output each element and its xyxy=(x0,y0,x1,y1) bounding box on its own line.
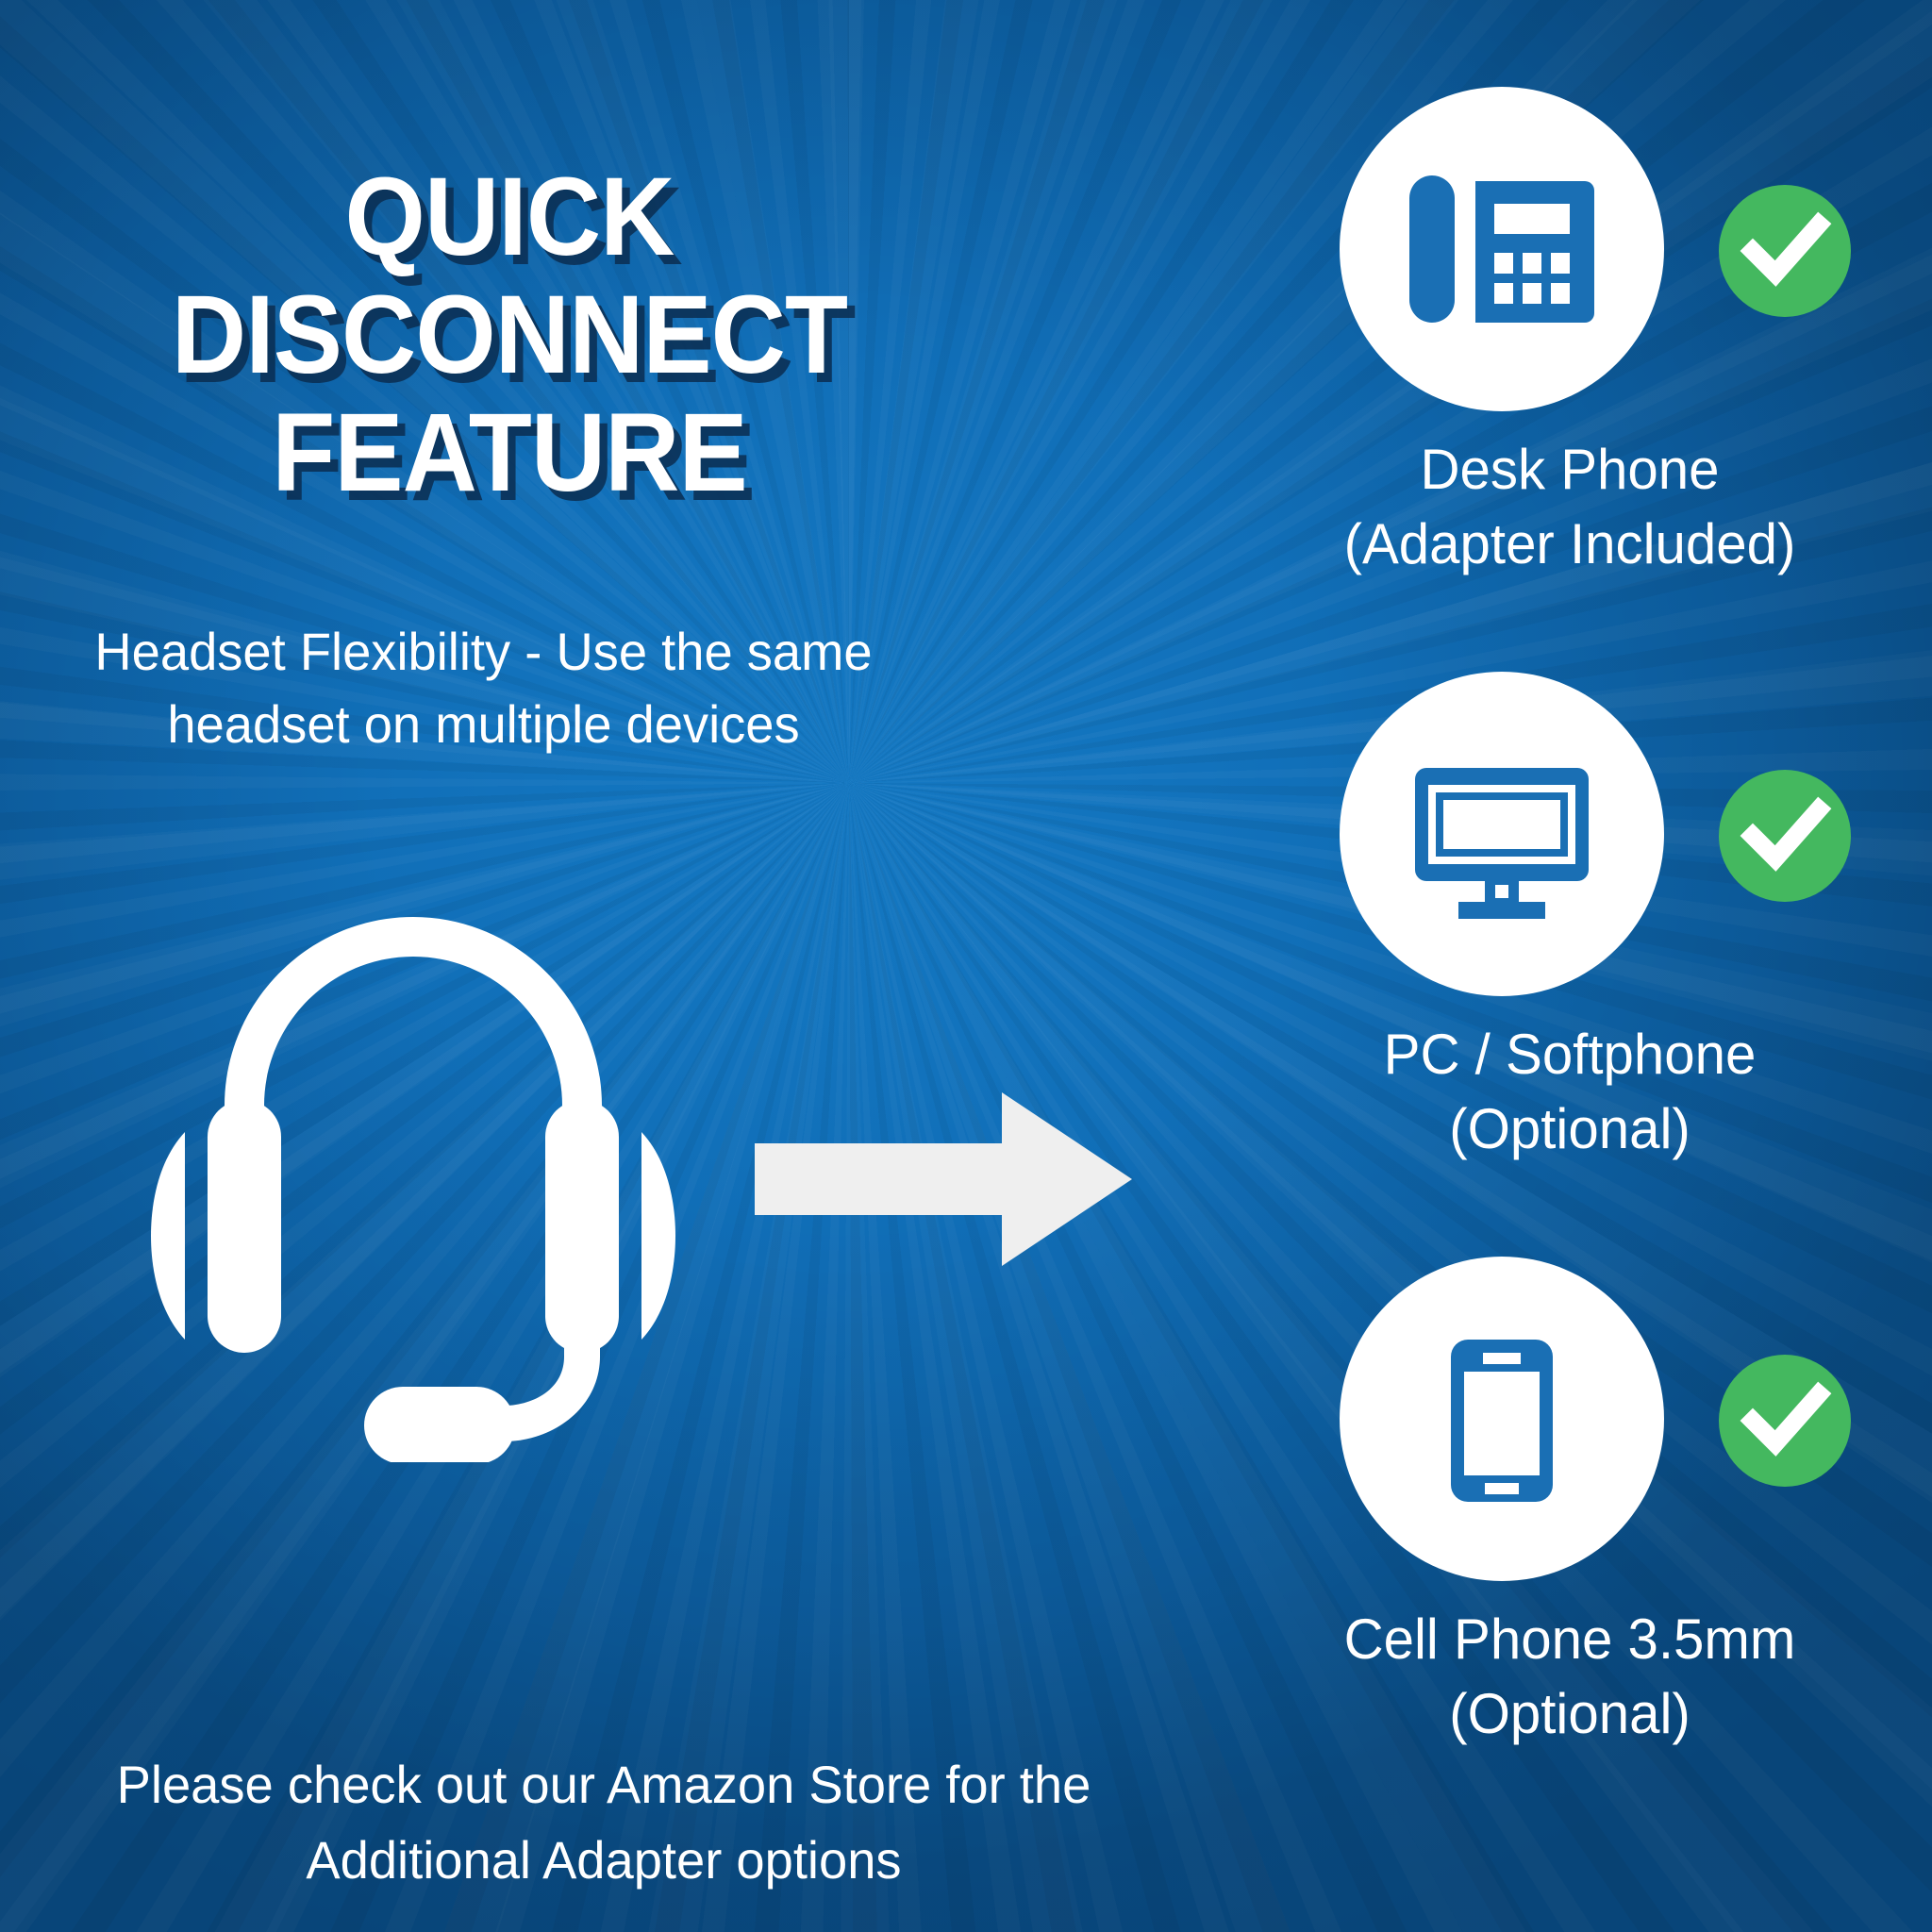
title-line-1: QUICK DISCONNECT xyxy=(89,158,931,394)
device-note: (Optional) xyxy=(1219,1091,1922,1166)
check-circle-icon xyxy=(1715,1351,1855,1491)
device-note: (Adapter Included) xyxy=(1219,507,1922,581)
check-circle-icon xyxy=(1715,181,1855,321)
arrow-right-icon xyxy=(755,1085,1132,1274)
subtitle-text: Headset Flexibility - Use the same heads… xyxy=(51,615,916,761)
title-line-2: FEATURE xyxy=(89,394,931,512)
device-name: Cell Phone 3.5mm xyxy=(1344,1607,1796,1671)
desk-phone-icon xyxy=(1340,87,1664,411)
device-note: (Optional) xyxy=(1219,1676,1922,1751)
device-label-cell-phone: Cell Phone 3.5mm (Optional) xyxy=(1219,1602,1922,1751)
check-circle-icon xyxy=(1715,766,1855,906)
headset-icon xyxy=(121,877,706,1462)
footnote-text: Please check out our Amazon Store for th… xyxy=(73,1747,1134,1897)
device-name: PC / Softphone xyxy=(1384,1023,1757,1086)
device-name: Desk Phone xyxy=(1420,438,1719,501)
monitor-icon xyxy=(1340,672,1664,996)
poster-canvas: QUICK DISCONNECT FEATURE Headset Flexibi… xyxy=(0,0,1932,1932)
page-title: QUICK DISCONNECT FEATURE xyxy=(57,158,962,512)
device-label-desk-phone: Desk Phone (Adapter Included) xyxy=(1219,432,1922,581)
mobile-phone-icon xyxy=(1340,1257,1664,1581)
device-label-pc-softphone: PC / Softphone (Optional) xyxy=(1219,1017,1922,1166)
